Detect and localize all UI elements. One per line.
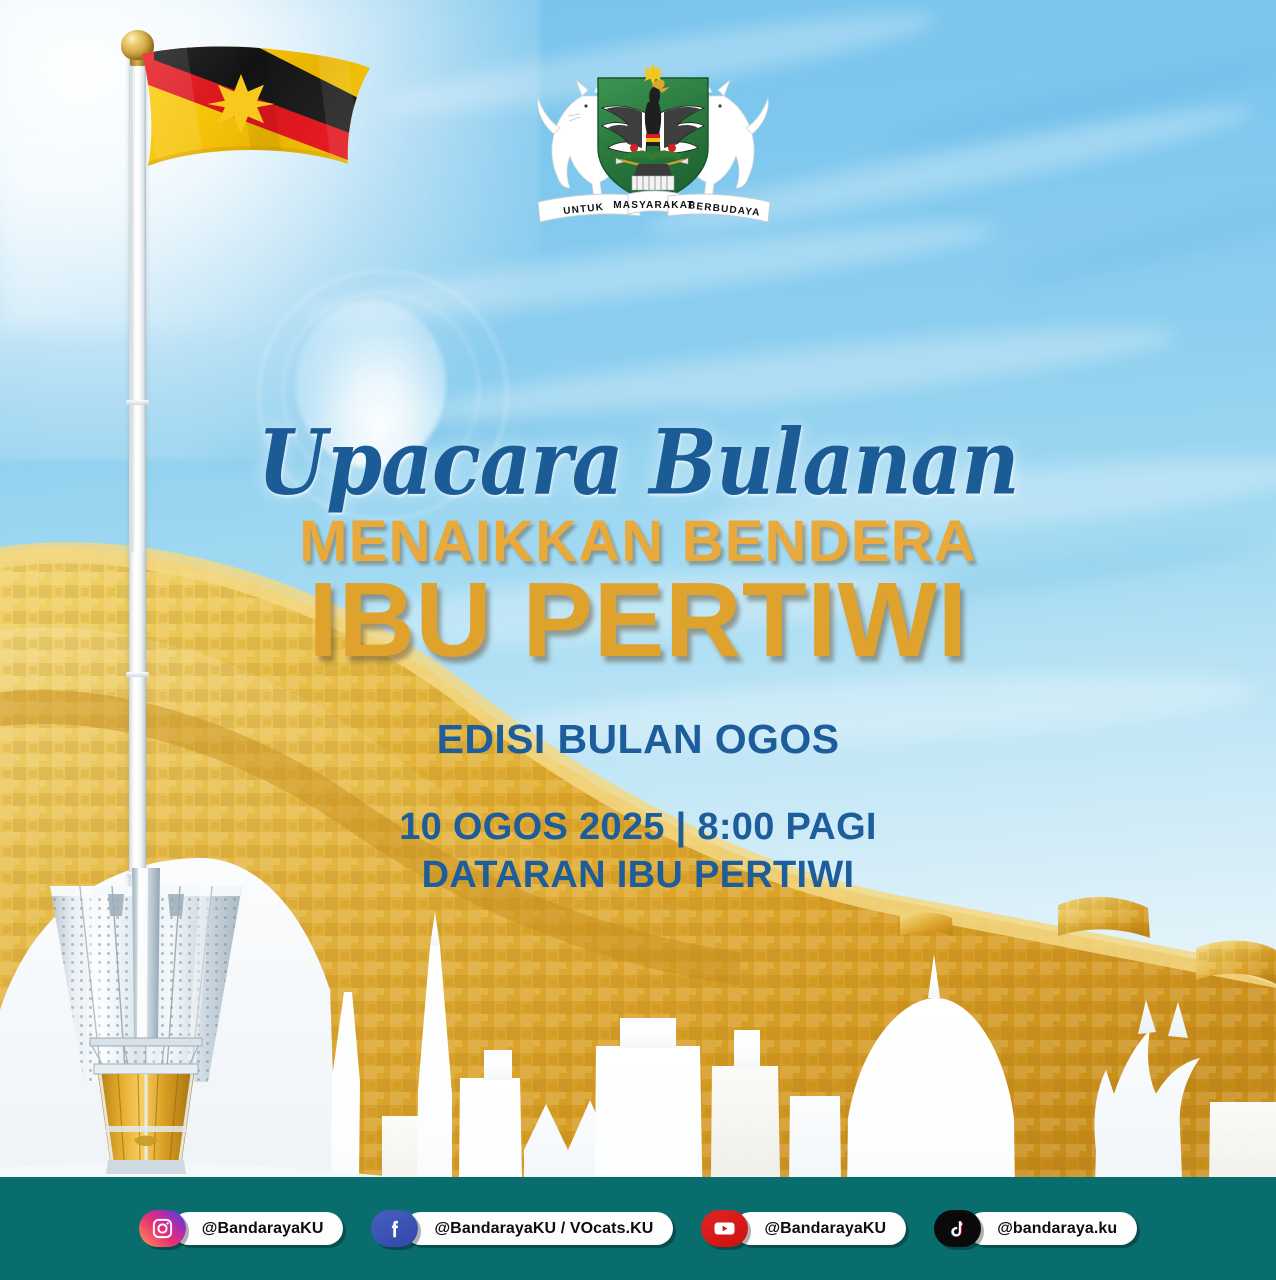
instagram-icon[interactable]: [139, 1210, 186, 1247]
flagpole-joint: [126, 400, 149, 405]
poster-canvas: UNTUK MASYARAKAT BERBUDAYA: [0, 0, 1276, 1280]
youtube-icon[interactable]: [701, 1210, 748, 1247]
flagpole-base-monument: [32, 868, 260, 1178]
title-script: Upacara Bulanan: [0, 409, 1276, 514]
motto-ribbon: UNTUK MASYARAKAT BERBUDAYA: [538, 191, 770, 222]
social-links-row: @BandarayaKU @BandarayaKU / VOcats.KU: [0, 1177, 1276, 1280]
youtube-handle-pill[interactable]: @BandarayaKU: [734, 1212, 906, 1245]
facebook-handle-pill[interactable]: @BandarayaKU / VOcats.KU: [404, 1212, 673, 1245]
coat-of-arms-emblem: UNTUK MASYARAKAT BERBUDAYA: [524, 56, 782, 232]
instagram-handle: @BandarayaKU: [202, 1220, 324, 1238]
footer-bar: @BandarayaKU @BandarayaKU / VOcats.KU: [0, 1177, 1276, 1280]
social-badge-tiktok[interactable]: @bandaraya.ku: [934, 1210, 1137, 1247]
youtube-handle: @BandarayaKU: [764, 1220, 886, 1238]
event-venue: DATARAN IBU PERTIWI: [0, 854, 1276, 897]
instagram-handle-pill[interactable]: @BandarayaKU: [172, 1212, 344, 1245]
sarawak-flag: [140, 44, 372, 202]
event-datetime: 10 OGOS 2025 | 8:00 PAGI: [0, 806, 1276, 849]
tiktok-handle: @bandaraya.ku: [997, 1220, 1117, 1238]
tiktok-icon[interactable]: [934, 1210, 981, 1247]
tiktok-handle-pill[interactable]: @bandaraya.ku: [967, 1212, 1137, 1245]
edition-label: EDISI BULAN OGOS: [0, 716, 1276, 763]
title-line-3: IBU PERTIWI: [0, 560, 1276, 681]
social-badge-youtube[interactable]: @BandarayaKU: [701, 1210, 906, 1247]
facebook-handle: @BandarayaKU / VOcats.KU: [434, 1220, 653, 1238]
facebook-icon[interactable]: [371, 1210, 418, 1247]
social-badge-facebook[interactable]: @BandarayaKU / VOcats.KU: [371, 1210, 673, 1247]
motto-center: MASYARAKAT: [613, 200, 694, 211]
social-badge-instagram[interactable]: @BandarayaKU: [139, 1210, 344, 1247]
